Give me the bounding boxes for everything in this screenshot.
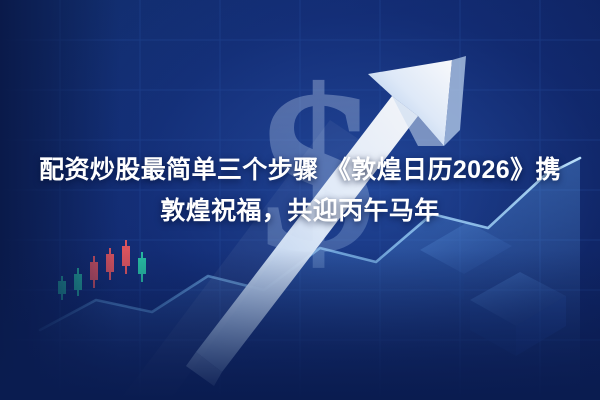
headline-line-2: 敦煌祝福，共迎丙午马年 (14, 191, 586, 232)
promo-banner: $ 配资炒股最简单三个步骤 《敦煌日历2026》携 敦煌祝福，共迎丙午马年 (0, 0, 600, 400)
bottom-vignette (0, 250, 600, 400)
headline: 配资炒股最简单三个步骤 《敦煌日历2026》携 敦煌祝福，共迎丙午马年 (0, 150, 600, 232)
headline-line-1: 配资炒股最简单三个步骤 《敦煌日历2026》携 (14, 150, 586, 191)
